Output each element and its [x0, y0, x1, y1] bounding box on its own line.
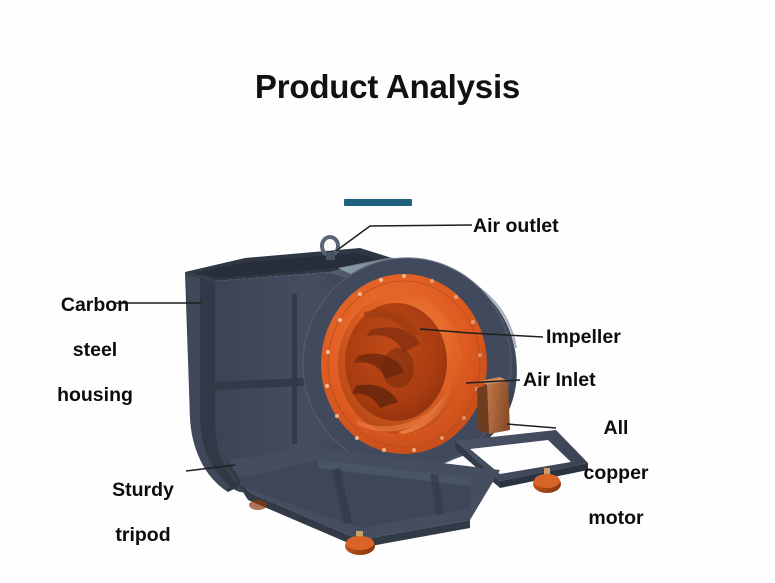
- callout-line: Sturdy: [100, 479, 186, 502]
- callout-line: steel: [40, 339, 150, 362]
- leader-all-copper-motor: [507, 424, 556, 428]
- callout-impeller: Impeller: [546, 326, 621, 349]
- leader-air-outlet: [336, 225, 472, 251]
- callout-carbon-steel-housing: Carbon steel housing: [40, 271, 150, 429]
- callout-air-inlet: Air Inlet: [523, 369, 596, 392]
- callout-line: copper: [560, 462, 672, 485]
- rubber-foot-left: [249, 500, 267, 510]
- callout-line: motor: [560, 507, 672, 530]
- callout-line: tripod: [100, 524, 186, 547]
- callout-sturdy-tripod: Sturdy tripod: [100, 456, 186, 569]
- product-analysis-canvas: Product Analysis: [0, 0, 775, 583]
- callout-air-outlet: Air outlet: [473, 215, 559, 238]
- callout-line: All: [560, 417, 672, 440]
- callout-line: Carbon: [40, 294, 150, 317]
- callout-all-copper-motor: All copper motor: [560, 394, 672, 552]
- callout-line: housing: [40, 384, 150, 407]
